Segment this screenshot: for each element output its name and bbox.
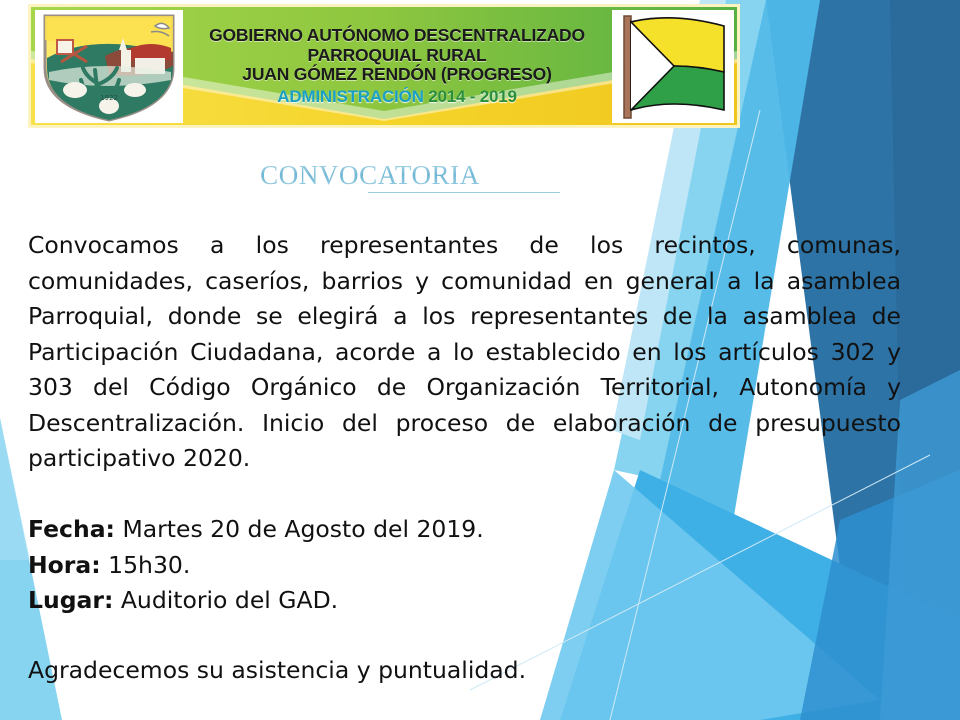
decor-shape-deep-lower [800,470,960,720]
detail-value-fecha: Martes 20 de Agosto del 2019. [122,515,483,543]
banner-line-2: PARROQUIAL RURAL [308,46,487,66]
detail-row-hora: Hora: 15h30. [28,548,484,584]
banner-line-1: GOBIERNO AUTÓNOMO DESCENTRALIZADO [209,26,585,46]
detail-row-lugar: Lugar: Auditorio del GAD. [28,583,484,619]
decor-shape-light-lower [540,470,880,720]
banner-administration-line: ADMINISTRACIÓN 2014 - 2019 [277,87,517,106]
body-paragraph: Convocamos a los representantes de los r… [28,228,901,477]
detail-row-fecha: Fecha: Martes 20 de Agosto del 2019. [28,512,484,548]
svg-text:1922: 1922 [100,94,118,102]
detail-label-fecha: Fecha: [28,515,115,543]
detail-label-hora: Hora: [28,551,101,579]
detail-label-lugar: Lugar: [28,586,113,614]
decor-hairline-2 [470,455,930,690]
decor-shape-left-wedge-pale [0,418,30,560]
header-banner: 1922 GOBIERNO AUTÓNOMO DESCENTRALIZADO P… [28,4,740,128]
detail-value-hora: 15h30. [108,551,190,579]
presentation-slide: 1922 GOBIERNO AUTÓNOMO DESCENTRALIZADO P… [0,0,960,720]
coat-of-arms-icon: 1922 [35,10,183,123]
event-details-list: Fecha: Martes 20 de Agosto del 2019. Hor… [28,512,484,619]
decor-shape-sky-lower [560,470,960,720]
closing-line: Agradecemos su asistencia y puntualidad. [28,653,526,689]
page-title: CONVOCATORIA [0,160,740,191]
administration-years: 2014 - 2019 [428,87,517,106]
title-underline [368,192,560,193]
banner-title-block: GOBIERNO AUTÓNOMO DESCENTRALIZADO PARROQ… [183,7,611,125]
administration-label: ADMINISTRACIÓN [277,87,423,106]
parish-flag-icon [612,10,734,123]
banner-line-3: JUAN GÓMEZ RENDÓN (PROGRESO) [242,65,551,85]
detail-value-lugar: Auditorio del GAD. [121,586,338,614]
